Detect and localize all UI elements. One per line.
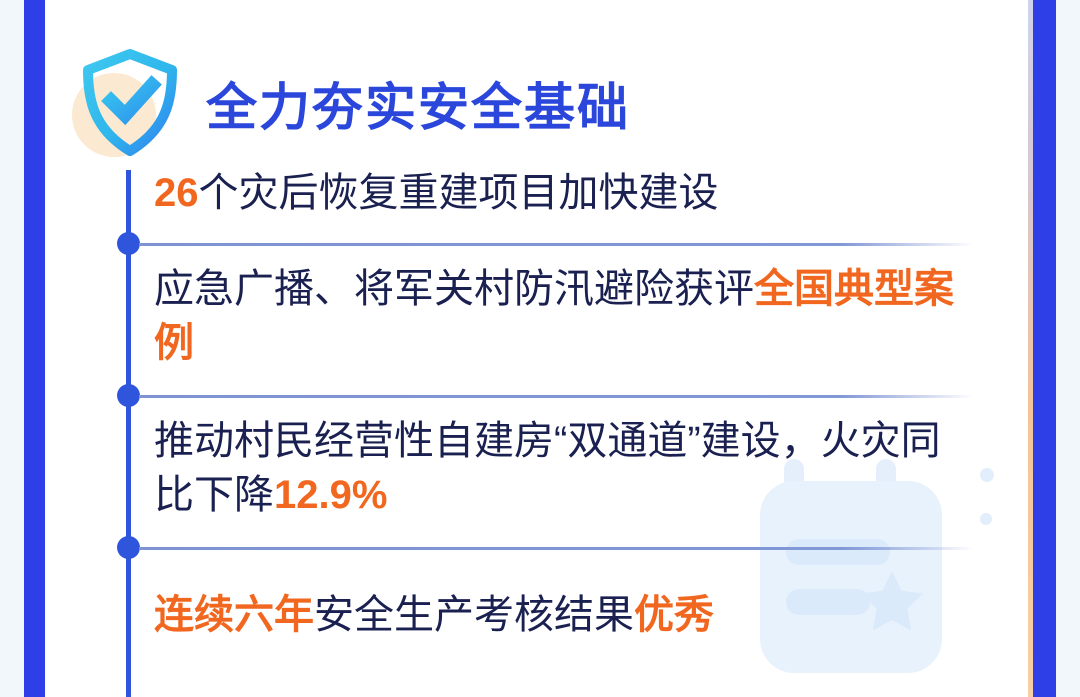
list-item-body: 安全生产考核结果 xyxy=(314,593,634,637)
list-item: 连续六年安全生产考核结果优秀 xyxy=(139,548,979,668)
timeline-dot xyxy=(117,384,140,407)
list-item-body: 应急广播、将军关村防汛避险获评 xyxy=(154,267,754,311)
right-gutter xyxy=(1056,0,1080,697)
list-item: 推动村民经营性自建房“双通道”建设，火灾同比下降12.9% xyxy=(139,396,979,548)
right-accent-bar xyxy=(1033,0,1056,697)
list-item-text: 26个灾后恢复重建项目加快建设 xyxy=(139,166,979,220)
left-gutter xyxy=(0,0,24,697)
list-item-body: 推动村民经营性自建房“双通道”建设，火灾同比下降 xyxy=(154,419,941,517)
list-item: 应急广播、将军关村防汛避险获评全国典型案例 xyxy=(139,244,979,396)
list-item-text: 应急广播、将军关村防汛避险获评全国典型案例 xyxy=(139,262,979,370)
list-item: 26个灾后恢复重建项目加快建设 xyxy=(139,160,979,244)
list-item-highlight: 连续六年 xyxy=(154,593,314,637)
list-item-highlight: 12.9% xyxy=(274,473,387,517)
shield-check-icon xyxy=(70,45,188,163)
timeline-dot xyxy=(117,536,140,559)
list-item-body: 个灾后恢复重建项目加快建设 xyxy=(199,171,719,215)
list-item-text: 连续六年安全生产考核结果优秀 xyxy=(139,588,979,642)
infographic-poster: 全力夯实安全基础 26个灾后恢复重建项目加快建设 应急广播、将军关村防汛避险获评… xyxy=(0,0,1080,697)
list-item-highlight: 优秀 xyxy=(634,593,714,637)
left-accent-bar xyxy=(24,0,45,697)
page-title: 全力夯实安全基础 xyxy=(206,82,630,133)
timeline-dot xyxy=(117,232,140,255)
watermark-dot-icon xyxy=(980,468,994,482)
list-item-text: 推动村民经营性自建房“双通道”建设，火灾同比下降12.9% xyxy=(139,414,979,522)
section-header: 全力夯实安全基础 xyxy=(70,44,630,164)
achievement-list: 26个灾后恢复重建项目加快建设 应急广播、将军关村防汛避险获评全国典型案例 推动… xyxy=(139,160,979,668)
list-item-highlight: 26 xyxy=(154,171,199,215)
watermark-dot-icon xyxy=(980,513,992,525)
